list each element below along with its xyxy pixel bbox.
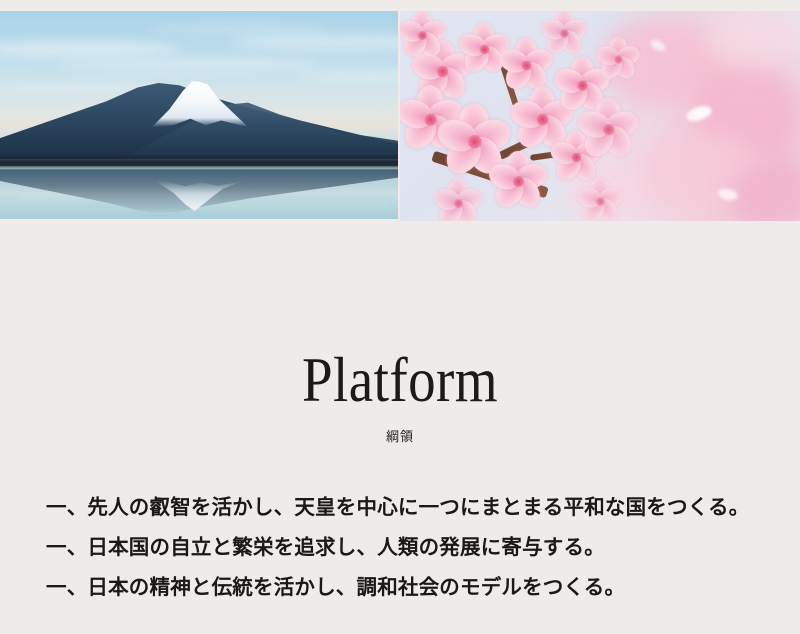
sakura-flower	[461, 26, 507, 72]
sakura-flower	[581, 102, 636, 157]
platform-statement-2: 一、日本国の自立と繁栄を追求し、人類の発展に寄与する。	[46, 527, 766, 567]
cloud-shape	[150, 23, 330, 33]
platform-statement-3: 一、日本の精神と伝統を活かし、調和社会のモデルをつくる。	[46, 567, 766, 607]
sakura-flower	[502, 41, 550, 89]
bokeh-blossom	[705, 11, 800, 66]
hero-banner	[0, 11, 800, 221]
sakura-flower	[400, 13, 444, 57]
cloud-shape	[230, 35, 398, 49]
cloud-shape	[300, 71, 398, 81]
page-subtitle: 綱領	[0, 426, 800, 445]
hero-image-mount-fuji	[0, 11, 398, 219]
sakura-flower	[436, 181, 480, 221]
sakura-flower	[543, 12, 585, 54]
page-root: Platform 綱領 一、先人の叡智を活かし、天皇を中心に一つにまとまる平和な…	[0, 0, 800, 634]
page-title: Platform	[56, 348, 744, 412]
platform-statement-1: 一、先人の叡智を活かし、天皇を中心に一つにまとまる平和な国をつくる。	[46, 487, 766, 527]
headline-block: Platform 綱領	[0, 348, 800, 445]
hero-image-cherry-blossom	[400, 11, 800, 221]
sakura-flower	[598, 39, 638, 79]
water-streak	[210, 204, 390, 207]
platform-statement-list: 一、先人の叡智を活かし、天皇を中心に一つにまとまる平和な国をつくる。 一、日本国…	[46, 487, 766, 607]
cloud-shape	[0, 41, 180, 57]
cloud-shape	[60, 59, 320, 70]
sakura-flower	[579, 180, 621, 221]
sakura-flower	[492, 155, 545, 208]
